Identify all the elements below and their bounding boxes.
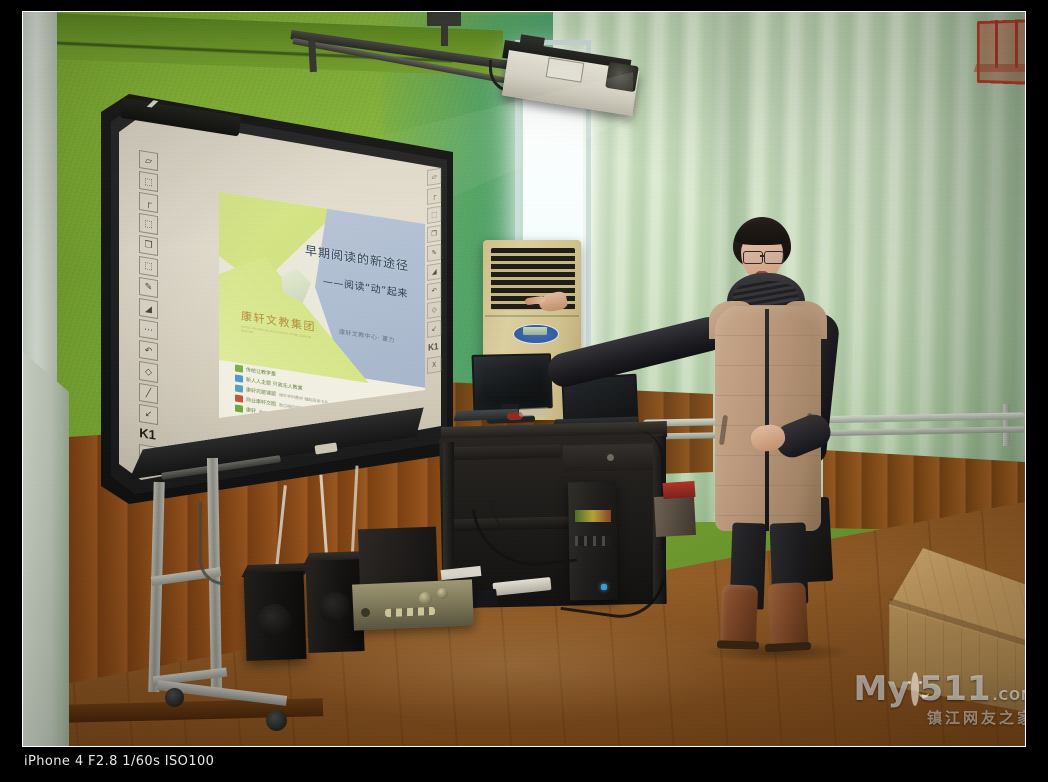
pen-icon[interactable]: ✎: [427, 244, 441, 262]
exif-caption: iPhone 4 F2.8 1/60s ISO100: [24, 754, 214, 769]
page-duplicate-icon[interactable]: ❐: [427, 225, 441, 243]
corner-select-icon[interactable]: ┌: [139, 192, 158, 213]
shape-icon[interactable]: ◇: [139, 361, 158, 382]
speaker-left-cone: [257, 604, 291, 638]
presenter-boot-left-sole: [717, 640, 759, 649]
presenter-boot-right: [767, 582, 808, 650]
glasses-bridge: [760, 255, 765, 257]
photo-white-border: 早期阅读的新途径 ——阅读“动”起来 康轩文教中心· 董力 康轩文教集团 KAN…: [22, 11, 1026, 747]
slide-bullet-icon: [235, 374, 243, 382]
presenter-left-arm: [544, 314, 729, 391]
whiteboard-toolbar-right[interactable]: ▱┌⬚❐✎◢↶◇↙K1X: [427, 167, 443, 470]
amplifier-input-jack[interactable]: [361, 608, 370, 617]
highlighter-icon[interactable]: ◢: [427, 263, 441, 281]
page-blank-icon[interactable]: ⬚: [139, 256, 158, 277]
amplifier-tone-knob[interactable]: [437, 588, 448, 599]
whiteboard-caster-right: [266, 710, 287, 731]
left-wall-lower: [23, 352, 69, 746]
amplifier: [352, 579, 474, 630]
slide-bullet-icon: [235, 384, 243, 392]
presenter-boot-left: [720, 584, 758, 647]
presenter-vest-zipper: [765, 309, 769, 531]
power-plug-block: [470, 589, 498, 609]
highlighter-icon[interactable]: ◢: [139, 298, 158, 319]
line-icon[interactable]: ╱: [139, 383, 158, 404]
page-icon[interactable]: ⬚: [139, 213, 158, 234]
barre-post-right: [1003, 404, 1010, 446]
shape-icon[interactable]: ◇: [427, 301, 441, 319]
whiteboard-label-k1: K1: [139, 425, 156, 444]
slide-bullet-icon: [235, 404, 243, 412]
brand-mark-icon: [147, 99, 159, 109]
whiteboard-close-button-right[interactable]: X: [427, 356, 441, 374]
whiteboard-toolbar-left[interactable]: ▱⬚┌⬚❐⬚✎◢⋯↶◇╱↙K1X: [139, 150, 159, 465]
dots-icon[interactable]: ⋯: [139, 319, 158, 340]
red-valance-bar-1: [995, 20, 998, 68]
speaker-right-cone: [319, 592, 351, 624]
pen-icon[interactable]: ✎: [139, 277, 158, 298]
presenter: [543, 217, 843, 637]
red-valance-bar-2: [1015, 20, 1018, 68]
whiteboard-label-k1-right: K1: [427, 339, 440, 355]
whiteboard-cable: [199, 502, 224, 585]
eraser-icon[interactable]: ▱: [427, 168, 441, 186]
arrow-icon[interactable]: ↙: [427, 320, 441, 338]
slide-bullet-icon: [235, 364, 243, 372]
slide-bullet-icon: [235, 394, 243, 402]
corner-select-icon[interactable]: ┌: [427, 187, 441, 205]
photograph: 早期阅读的新途径 ——阅读“动”起来 康轩文教中心· 董力 康轩文教集团 KAN…: [23, 12, 1025, 746]
red-valance-base: [974, 64, 1025, 72]
whiteboard-caster-left: [165, 688, 184, 707]
projector-mount-pole-2: [441, 20, 448, 46]
eraser-icon[interactable]: ▱: [139, 150, 158, 171]
undo-icon[interactable]: ↶: [427, 282, 441, 300]
projector-lens: [605, 62, 639, 92]
arrow-icon[interactable]: ↙: [139, 404, 158, 425]
photo-frame: 早期阅读的新途径 ——阅读“动”起来 康轩文教中心· 董力 康轩文教集团 KAN…: [0, 0, 1048, 782]
glasses-left-lens-icon: [743, 251, 763, 264]
page-duplicate-icon[interactable]: ❐: [139, 235, 158, 256]
undo-icon[interactable]: ↶: [139, 340, 158, 361]
glasses-right-lens-icon: [764, 251, 784, 264]
page-new-icon[interactable]: ⬚: [139, 171, 158, 192]
page-icon[interactable]: ⬚: [427, 206, 441, 224]
